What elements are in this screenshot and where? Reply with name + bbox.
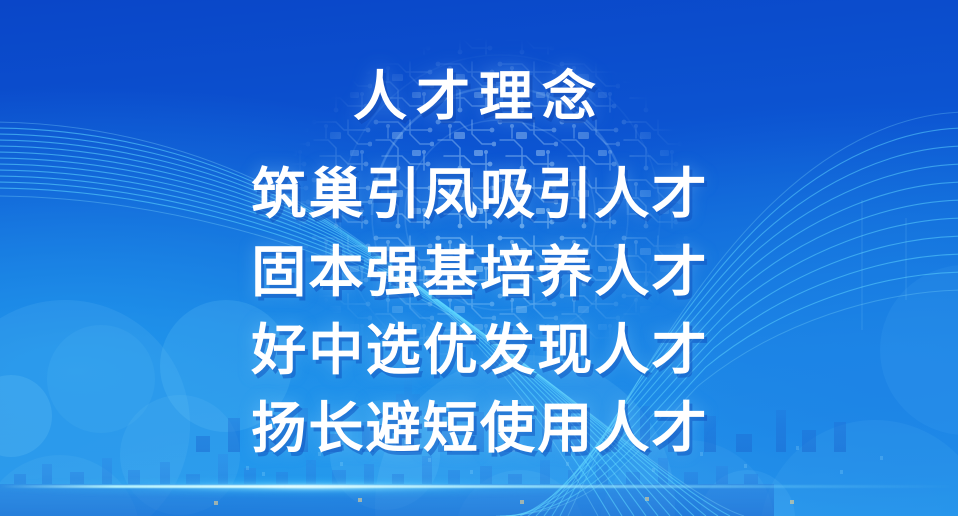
slogan-list: 筑巢引凤吸引人才 固本强基培养人才 好中选优发现人才 扬长避短使用人才 bbox=[241, 155, 719, 467]
page-title: 人才理念 bbox=[0, 52, 958, 131]
text-content: 人才理念 筑巢引凤吸引人才 固本强基培养人才 好中选优发现人才 扬长避短使用人才 bbox=[0, 0, 958, 516]
slogan-line: 好中选优发现人才 bbox=[241, 311, 719, 389]
slogan-line: 筑巢引凤吸引人才 bbox=[241, 155, 719, 233]
slogan-line: 固本强基培养人才 bbox=[241, 233, 719, 311]
poster-canvas: 人才理念 筑巢引凤吸引人才 固本强基培养人才 好中选优发现人才 扬长避短使用人才 bbox=[0, 0, 958, 516]
slogan-line: 扬长避短使用人才 bbox=[241, 389, 719, 467]
